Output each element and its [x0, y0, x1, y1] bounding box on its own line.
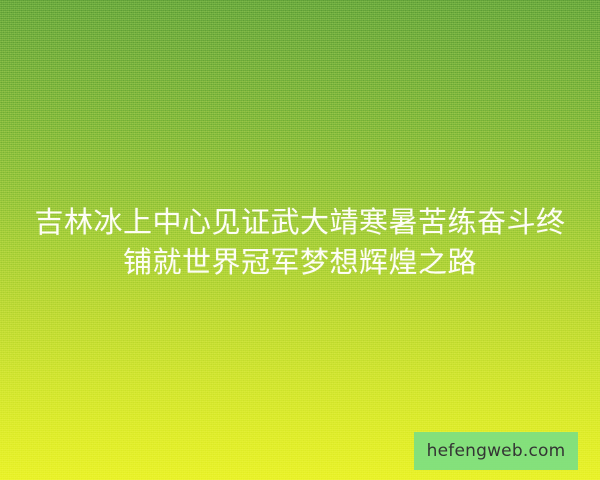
image-canvas: 吉林冰上中心见证武大靖寒暑苦练奋斗终 铺就世界冠军梦想辉煌之路 hefengwe… — [0, 0, 600, 480]
watermark-badge: hefengweb.com — [414, 432, 578, 470]
headline-text: 吉林冰上中心见证武大靖寒暑苦练奋斗终 铺就世界冠军梦想辉煌之路 — [0, 203, 600, 283]
watermark-label: hefengweb.com — [427, 441, 566, 461]
